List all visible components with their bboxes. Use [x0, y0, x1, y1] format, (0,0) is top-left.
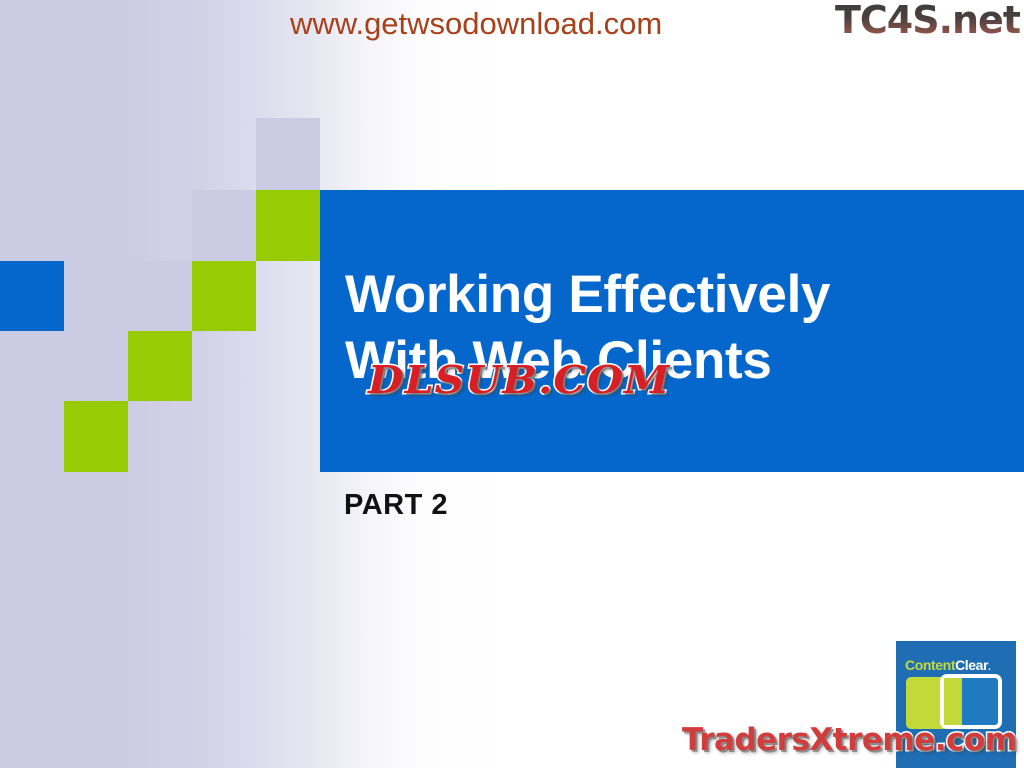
- contentclear-wordmark: ContentClear.: [905, 657, 991, 673]
- mosaic-tile-lav-r1-c4: [256, 118, 320, 190]
- mosaic-tile-green-r3-c3: [192, 261, 256, 331]
- top-url-watermark: www.getwsodownload.com: [290, 6, 662, 42]
- tc4s-brand-watermark: TC4S.net: [835, 0, 1020, 42]
- mosaic-tile-green-r4-c2: [128, 331, 192, 401]
- logo-word-dot: .: [988, 662, 990, 673]
- logo-word-clear: Clear: [955, 657, 988, 673]
- logo-word-content: Content: [905, 657, 955, 673]
- mosaic-tile-lav-r4-c1: [64, 331, 128, 401]
- logo-framed-panel-green-stripe: [944, 678, 962, 725]
- logo-framed-panel: [940, 674, 1002, 729]
- mosaic-tile-green-r5-c1: [64, 401, 128, 472]
- slide-subtitle: PART 2: [344, 489, 448, 522]
- dlsub-overlay-watermark: DLSUB.COM: [368, 357, 670, 402]
- mosaic-tile-lav-r3-c2: [128, 261, 192, 331]
- tradersxtreme-watermark: TradersXtreme.com: [682, 722, 1017, 758]
- presentation-slide: Working Effectively With Web Clients PAR…: [0, 0, 1024, 768]
- mosaic-tile-green-r2-c4: [256, 190, 320, 261]
- mosaic-tile-blue-r3-c0: [0, 261, 64, 331]
- mosaic-tile-lav-r2-c3: [192, 190, 256, 261]
